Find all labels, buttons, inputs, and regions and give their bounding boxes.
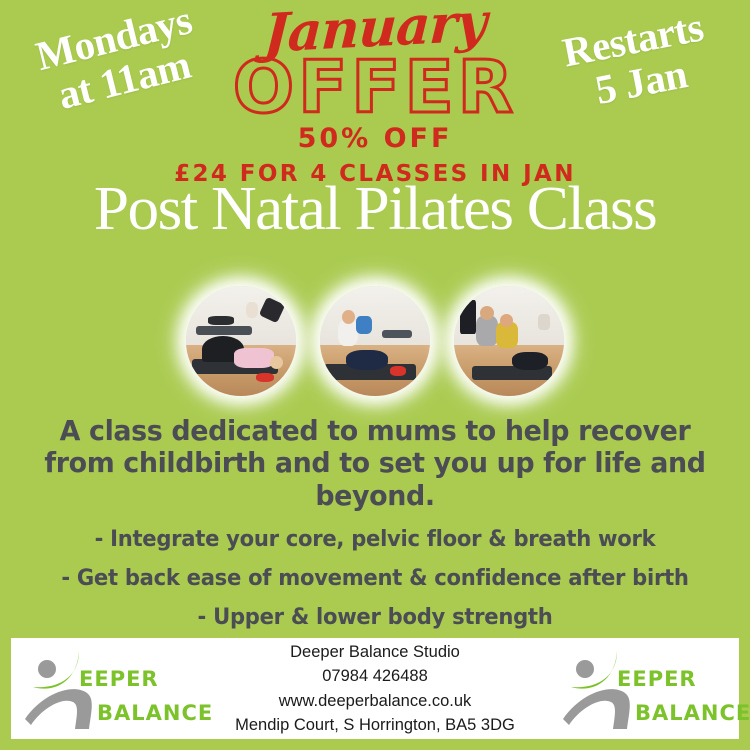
studio-address: Mendip Court, S Horrington, BA5 3DG bbox=[195, 713, 555, 737]
offer-discount-text: 50% OFF bbox=[0, 125, 750, 152]
class-photo-3 bbox=[454, 286, 564, 396]
brand-logo-right: EEPER BALANCE bbox=[555, 643, 733, 735]
brand-logo-left: EEPER BALANCE bbox=[17, 643, 195, 735]
class-photo-2 bbox=[320, 286, 430, 396]
logo-word-balance: BALANCE bbox=[97, 701, 213, 725]
photo-person-head bbox=[270, 356, 283, 369]
photo-background bbox=[320, 286, 430, 350]
photo-prop-red bbox=[390, 366, 406, 376]
benefit-item-2: - Get back ease of movement & confidence… bbox=[15, 568, 735, 590]
photo-person-head bbox=[500, 314, 513, 327]
photo-gallery bbox=[0, 282, 750, 400]
photo-prop-red bbox=[256, 373, 274, 382]
photo-person-legs bbox=[346, 350, 388, 370]
photo-instructor-torso bbox=[476, 316, 498, 346]
photo-background bbox=[186, 286, 296, 350]
photo-person-torso bbox=[234, 348, 274, 368]
photo-person-back-2 bbox=[246, 302, 258, 318]
photo-baby bbox=[356, 316, 372, 334]
photo-person-legs bbox=[512, 352, 548, 370]
class-photo-1 bbox=[186, 286, 296, 396]
page-title: Post Natal Pilates Class bbox=[0, 178, 750, 240]
logo-word-balance: BALANCE bbox=[635, 701, 750, 725]
benefit-item-1: - Integrate your core, pelvic floor & br… bbox=[15, 529, 735, 551]
poster-canvas: Mondays at 11am Restarts 5 Jan January O… bbox=[0, 0, 750, 750]
photo-instructor-head bbox=[480, 306, 494, 320]
photo-person-back-1 bbox=[208, 316, 234, 325]
photo-person-head bbox=[342, 310, 355, 324]
logo-word-deeper: EEPER bbox=[79, 667, 159, 691]
studio-name: Deeper Balance Studio bbox=[195, 640, 555, 664]
studio-phone[interactable]: 07984 426488 bbox=[195, 664, 555, 688]
logo-word-deeper: EEPER bbox=[617, 667, 697, 691]
photo-prop-bolster bbox=[382, 330, 412, 338]
description-block: A class dedicated to mums to help recove… bbox=[0, 415, 750, 668]
photo-doorway bbox=[460, 300, 476, 334]
contact-details: Deeper Balance Studio 07984 426488 www.d… bbox=[195, 640, 555, 736]
offer-block: January OFFER 50% OFF £24 FOR 4 CLASSES … bbox=[0, 0, 750, 186]
photo-person-back bbox=[538, 314, 550, 330]
benefit-item-3: - Upper & lower body strength bbox=[15, 607, 735, 629]
studio-website[interactable]: www.deeperbalance.co.uk bbox=[195, 689, 555, 713]
footer-bar: EEPER BALANCE Deeper Balance Studio 0798… bbox=[11, 638, 739, 739]
lead-paragraph: A class dedicated to mums to help recove… bbox=[15, 415, 735, 512]
photo-mat-back bbox=[196, 326, 252, 335]
